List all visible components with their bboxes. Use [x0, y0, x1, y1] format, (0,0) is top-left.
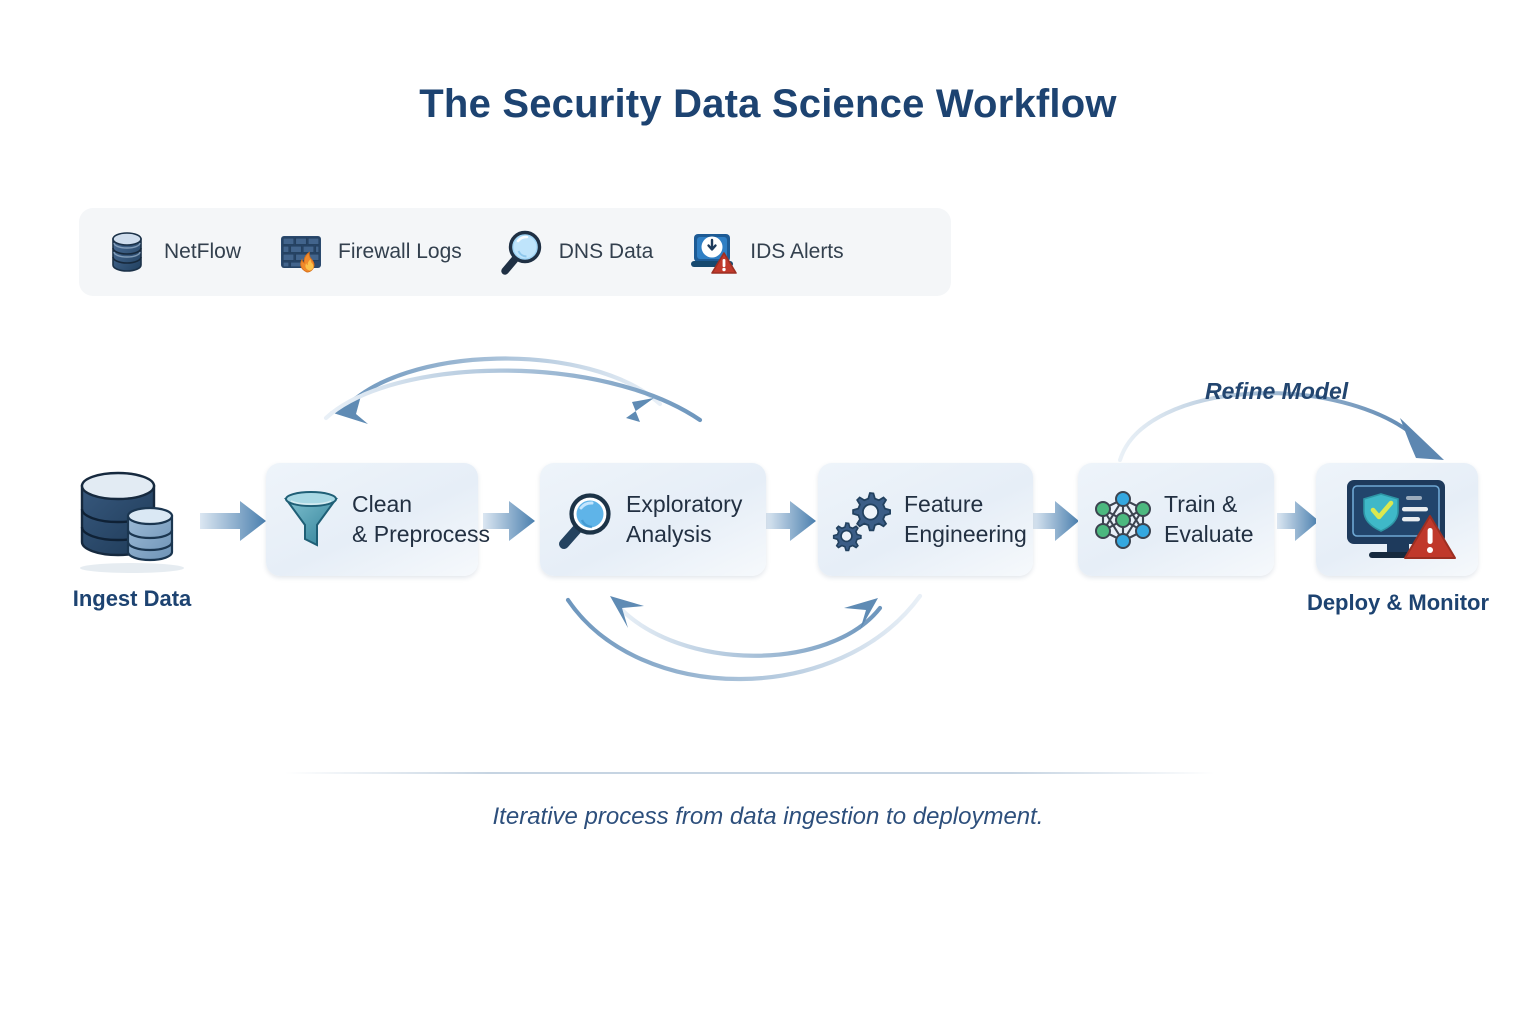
stage-feature-engineering[interactable]: Feature Engineering: [818, 463, 1033, 576]
stage-label-line2: & Preprocess: [352, 520, 490, 549]
stage-label: Exploratory Analysis: [626, 490, 742, 548]
stage-label: Clean & Preprocess: [352, 490, 490, 548]
stage-clean-preprocess[interactable]: Clean & Preprocess: [266, 463, 478, 576]
stage-exploratory-analysis[interactable]: Exploratory Analysis: [540, 463, 766, 576]
stage-label-line2: Evaluate: [1164, 520, 1254, 549]
stage-label-line2: Engineering: [904, 520, 1027, 549]
funnel-icon: [278, 487, 344, 553]
stage-label-line2: Analysis: [626, 520, 742, 549]
neural-network-icon: [1090, 487, 1156, 553]
stage-deploy-monitor[interactable]: [1316, 463, 1478, 576]
stage-label-line1: Feature: [904, 491, 983, 517]
magnifier-icon: [552, 487, 618, 553]
flow-start-ingest-data[interactable]: Ingest Data: [68, 466, 198, 583]
stage-label-line1: Exploratory: [626, 491, 742, 517]
refine-model-label: Refine Model: [1205, 378, 1348, 405]
stacked-database-icon: [68, 466, 198, 583]
stage-label-line1: Clean: [352, 491, 412, 517]
stage-train-evaluate[interactable]: Train & Evaluate: [1078, 463, 1274, 576]
flow-end-label: Deploy & Monitor: [1300, 590, 1496, 616]
stage-label: Train & Evaluate: [1164, 490, 1254, 548]
stage-label-line1: Train &: [1164, 491, 1237, 517]
footer-divider: [285, 772, 1215, 774]
footer-caption: Iterative process from data ingestion to…: [0, 803, 1536, 831]
gears-icon: [830, 487, 896, 553]
stage-label: Feature Engineering: [904, 490, 1027, 548]
monitor-shield-alert-icon: [1333, 472, 1461, 568]
flow-start-label: Ingest Data: [62, 586, 202, 612]
workflow-row: Ingest Data Clean & Preprocess: [0, 0, 1536, 1024]
